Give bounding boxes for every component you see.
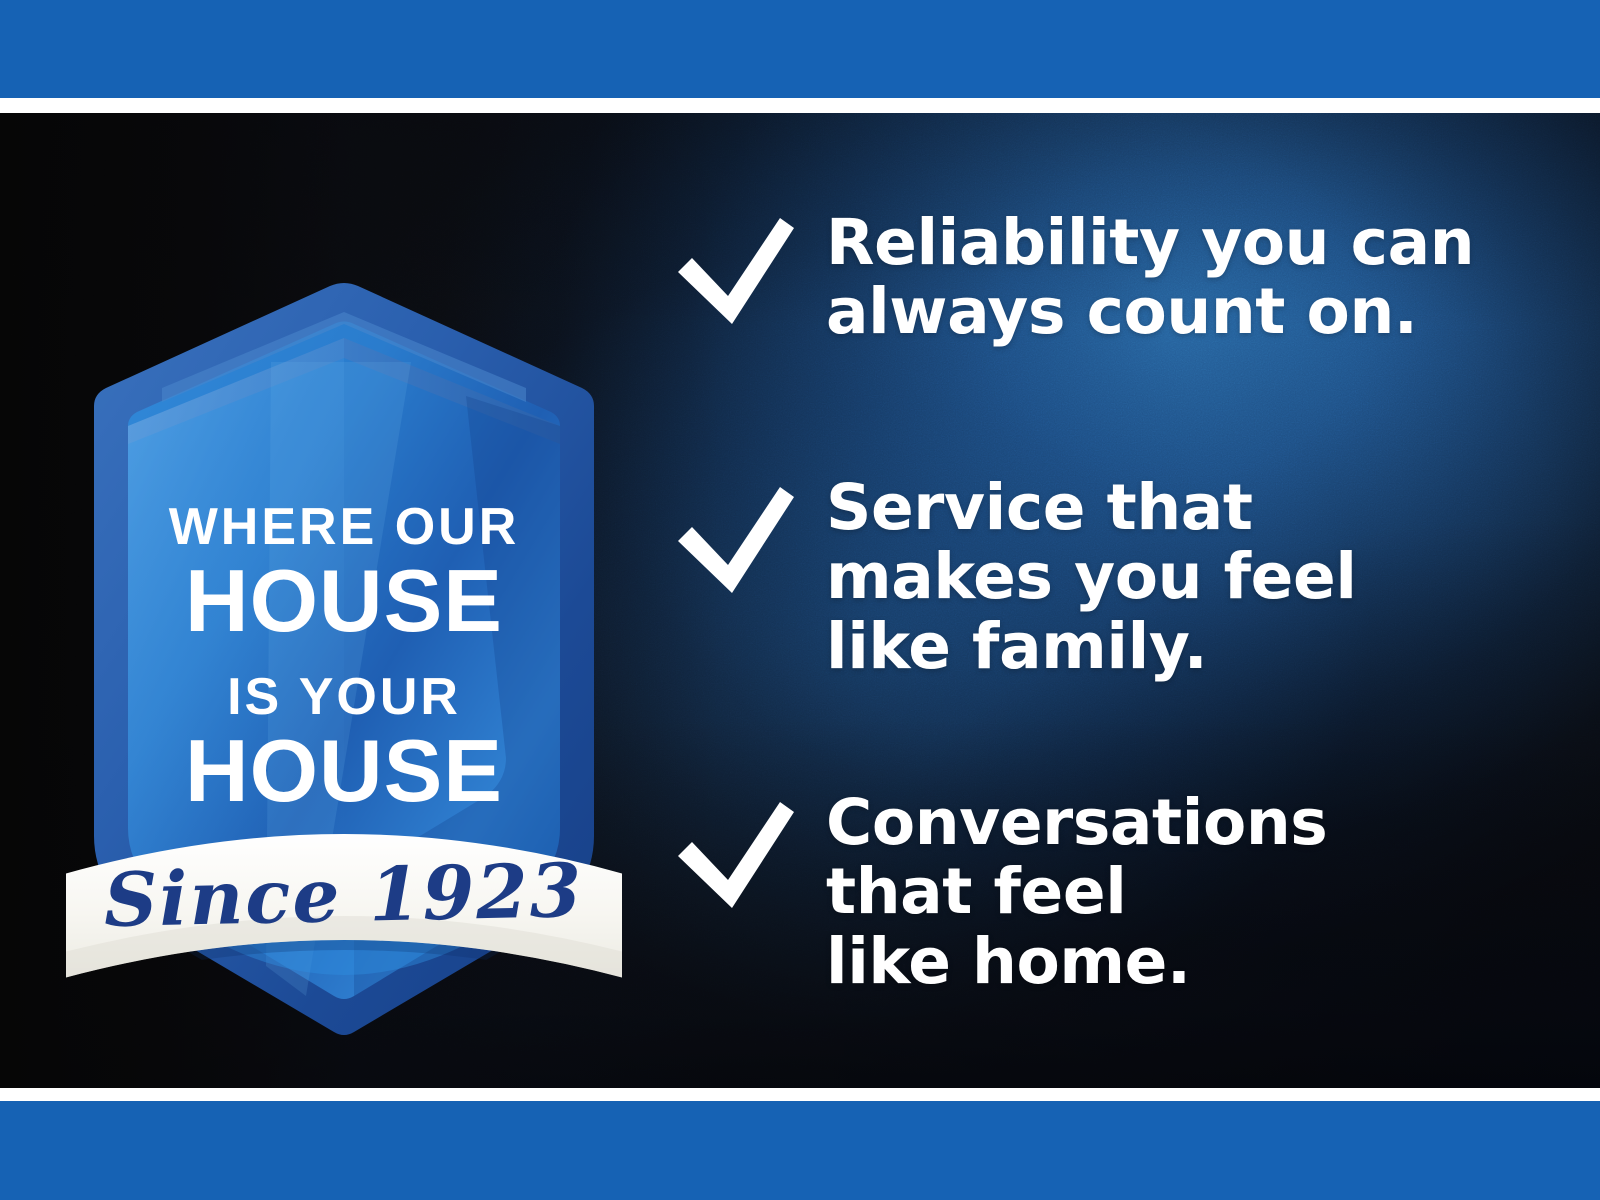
benefit-item: Reliability you can always count on. (672, 208, 1474, 347)
bottom-divider (0, 1088, 1600, 1101)
top-brand-bar (0, 0, 1600, 98)
badge-line-4: HOUSE (185, 721, 503, 820)
benefit-text: Service that makes you feel like family. (826, 473, 1357, 681)
bottom-brand-bar (0, 1101, 1600, 1200)
badge-line-1: WHERE OUR (169, 498, 520, 556)
top-divider (0, 98, 1600, 113)
check-icon (672, 485, 798, 597)
badge-line-3: IS YOUR (227, 668, 461, 726)
benefit-text: Reliability you can always count on. (826, 208, 1474, 347)
benefit-text: Conversations that feel like home. (826, 788, 1327, 996)
check-icon (672, 800, 798, 912)
main-stage: WHERE OUR HOUSE IS YOUR HOUSE Since 1923 (0, 113, 1600, 1088)
badge-ribbon-text: Since 1923 (103, 848, 584, 944)
promo-graphic: WHERE OUR HOUSE IS YOUR HOUSE Since 1923 (0, 0, 1600, 1200)
shield-badge: WHERE OUR HOUSE IS YOUR HOUSE Since 1923 (66, 276, 622, 1041)
badge-line-2: HOUSE (185, 551, 503, 650)
check-icon (672, 216, 798, 328)
benefit-item: Conversations that feel like home. (672, 788, 1327, 996)
benefit-item: Service that makes you feel like family. (672, 473, 1357, 681)
